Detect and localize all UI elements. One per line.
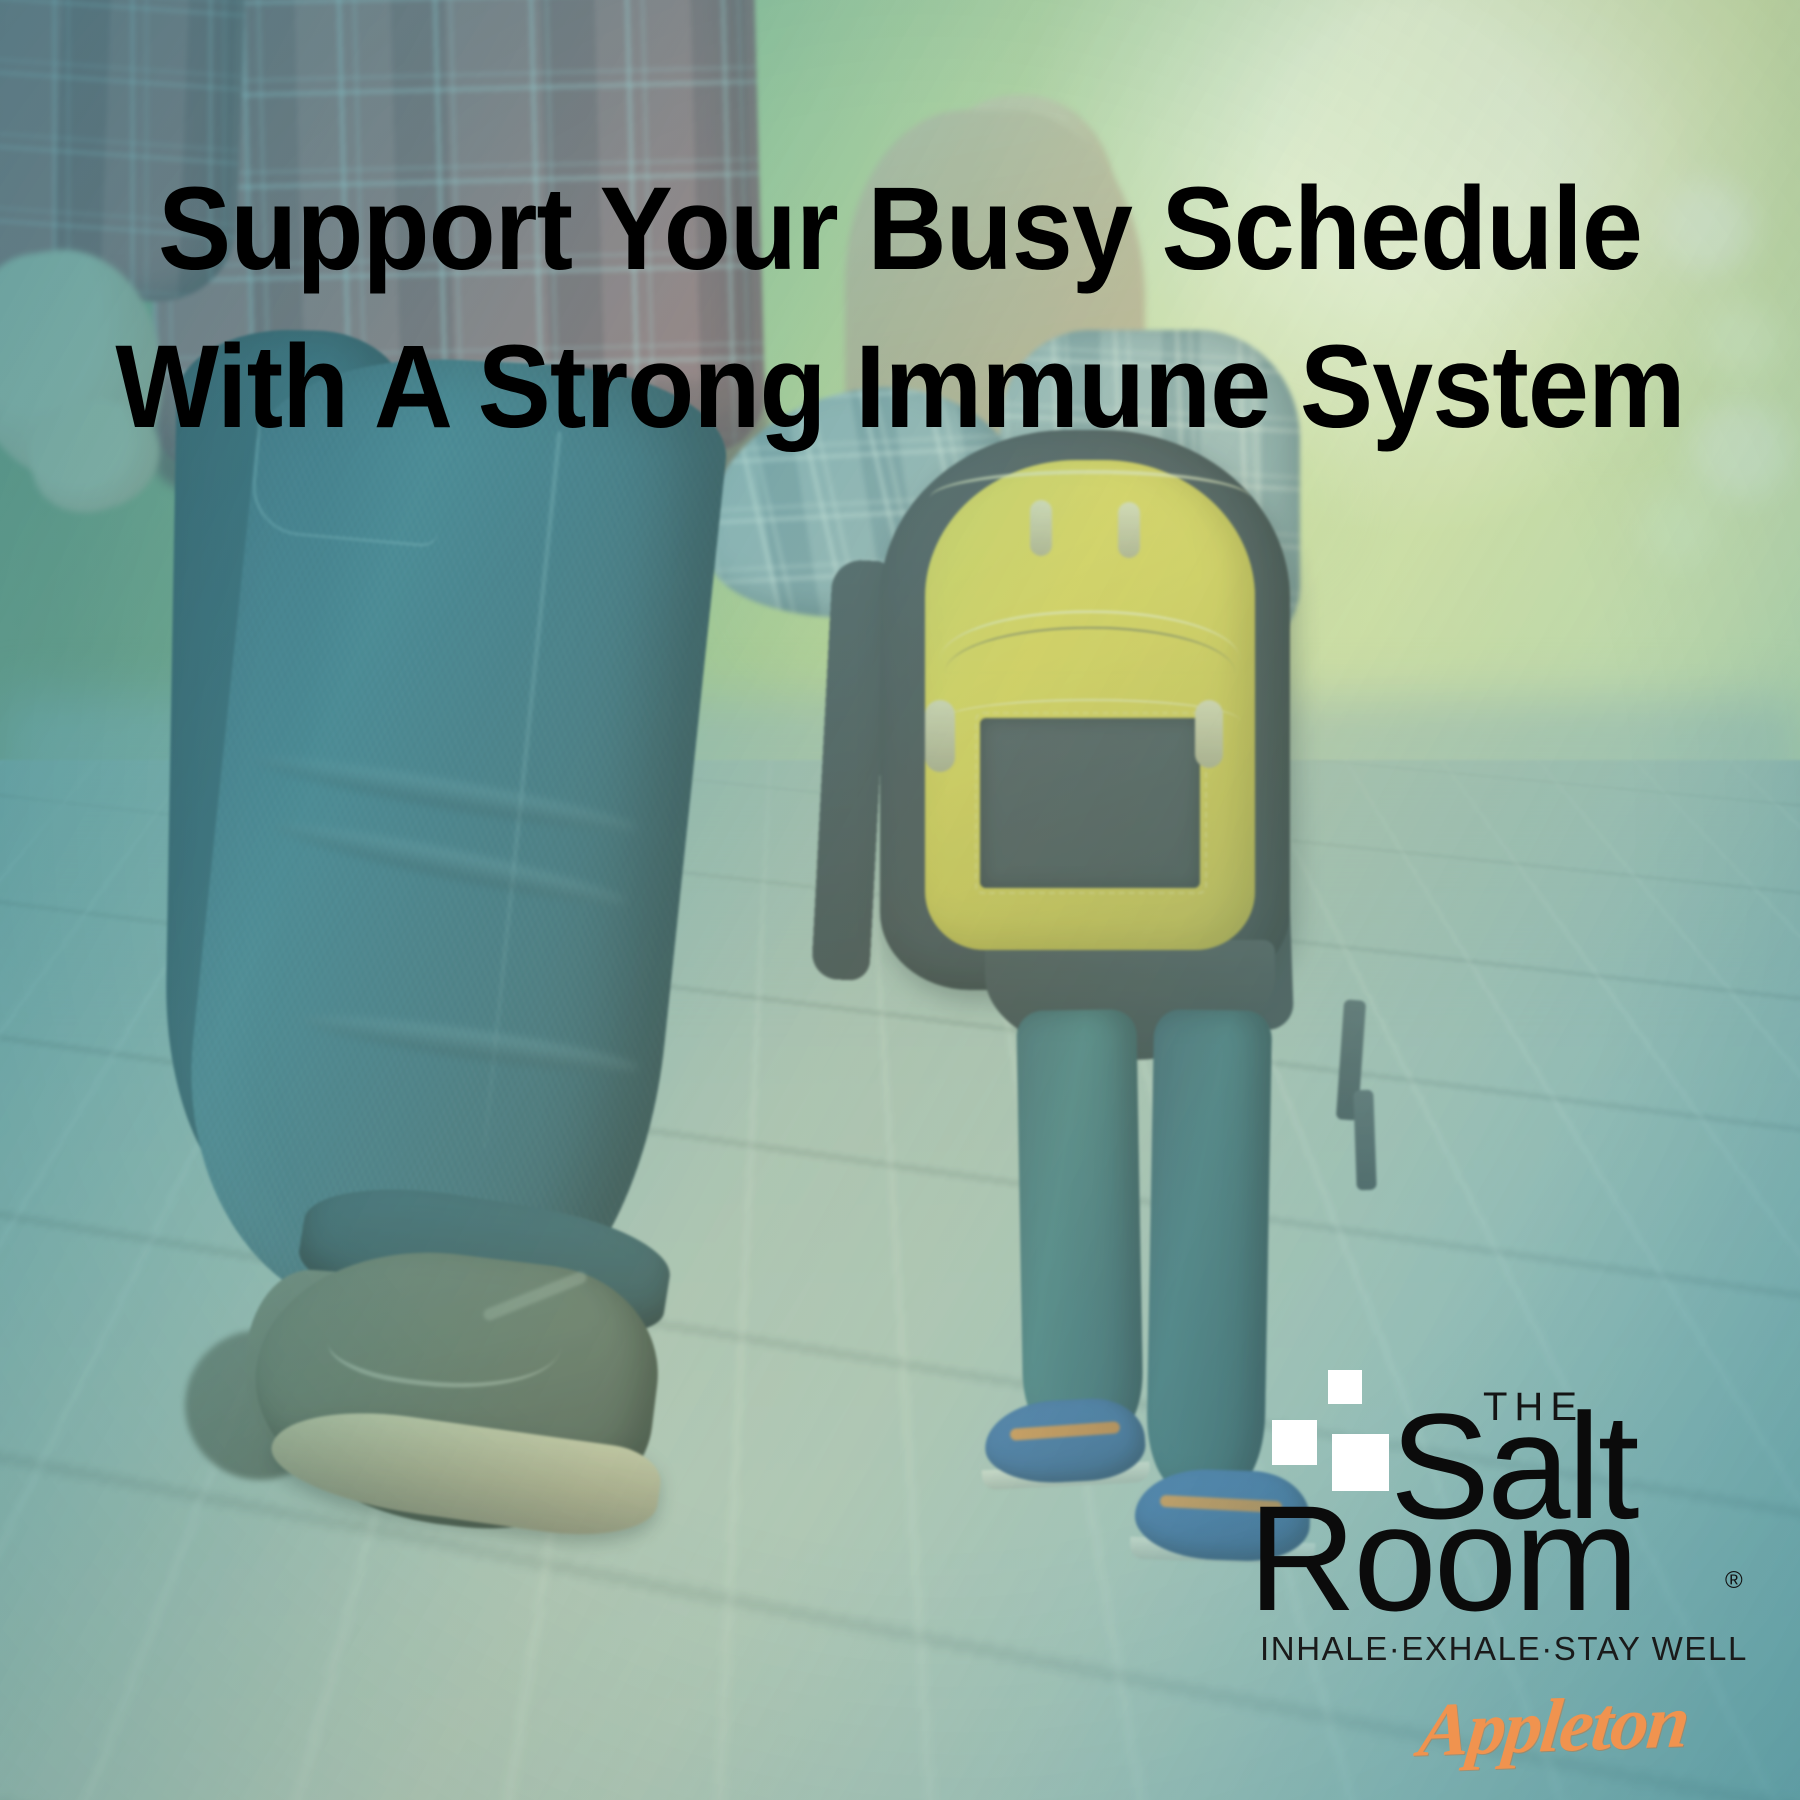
backpack-side-clip [925,700,955,772]
salt-square-medium [1272,1420,1317,1465]
backpack-front-pocket [980,718,1200,888]
child-leg-left [1016,1009,1143,1441]
registered-trademark-icon: ® [1725,1567,1743,1595]
logo-city-name: Appleton [1415,1678,1692,1774]
backpack-top-zipper [930,470,1250,526]
salt-square-small [1328,1370,1362,1404]
backpack-dangling-strap [1353,1090,1376,1191]
backpack-side-clip [1195,700,1223,768]
bokeh-light [1640,490,1718,568]
logo-tagline: INHALE·EXHALE·STAY WELL [1260,1630,1748,1668]
headline: Support Your Busy Schedule With A Strong… [63,150,1737,466]
headline-line-1: Support Your Busy Schedule [63,150,1737,308]
zipper-pull [1030,500,1052,556]
zipper-pull [1118,502,1140,558]
social-graphic-canvas: Support Your Busy Schedule With A Strong… [0,0,1800,1800]
headline-line-2: With A Strong Immune System [63,308,1737,466]
child-leg-right [1146,1009,1272,1491]
salt-room-logo[interactable]: THE Salt Room ® INHALE·EXHALE·STAY WELL … [1270,1195,1780,1575]
logo-room-text: Room [1248,1483,1636,1633]
